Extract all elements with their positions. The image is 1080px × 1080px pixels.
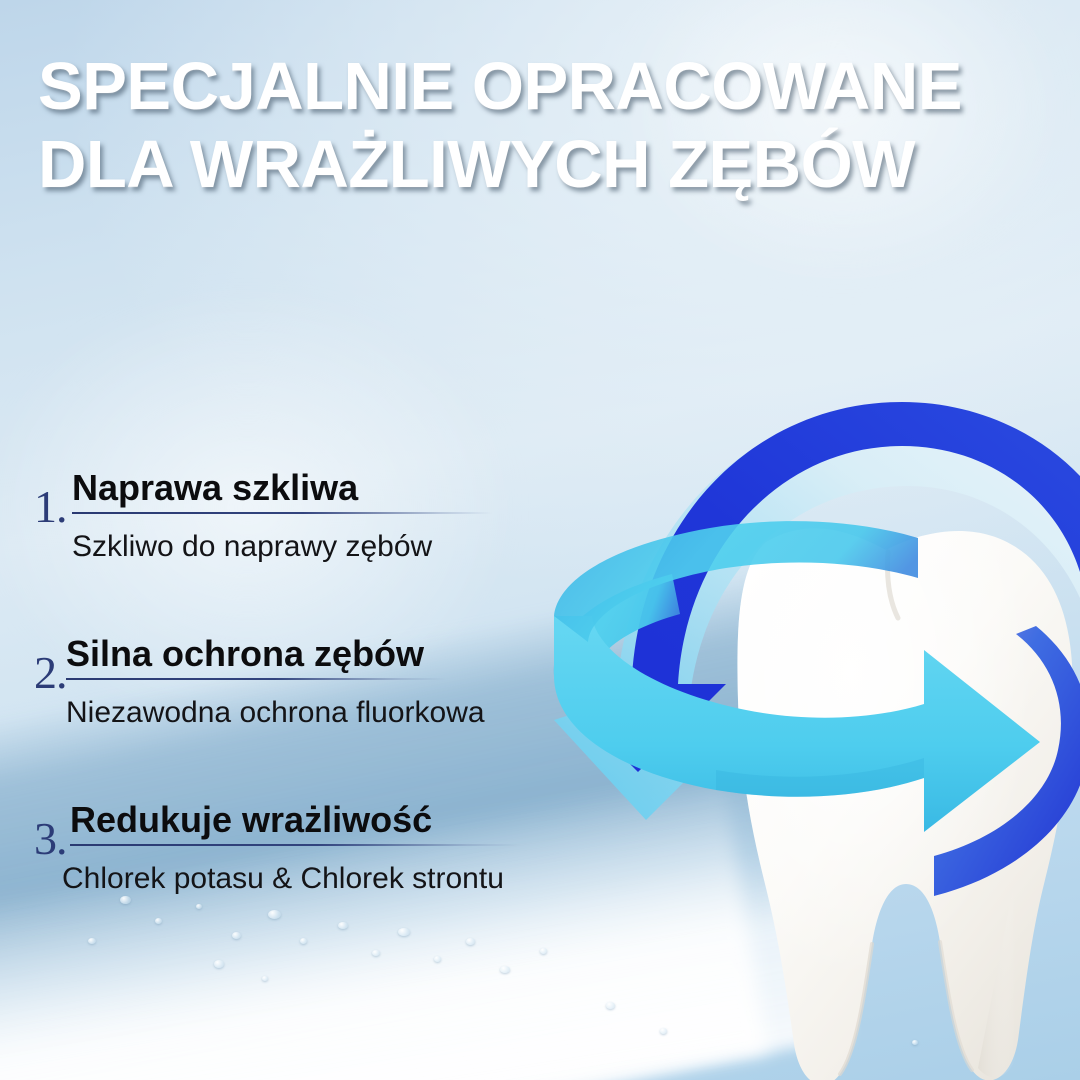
feature-divider-1 (72, 512, 492, 514)
page-title: SPECJALNIE OPRACOWANE DLA WRAŻLIWYCH ZĘB… (38, 48, 1048, 204)
poster-root: SPECJALNIE OPRACOWANE DLA WRAŻLIWYCH ZĘB… (0, 0, 1080, 1080)
feature-number-2: 2. (34, 650, 67, 696)
feature-number-3: 3. (34, 816, 67, 862)
feature-number-1: 1. (34, 484, 67, 530)
feature-item-2: 2. Silna ochrona zębów Niezawodna ochron… (0, 632, 560, 732)
feature-subtitle-3: Chlorek potasu & Chlorek strontu (62, 860, 560, 898)
feature-subtitle-1: Szkliwo do naprawy zębów (72, 528, 560, 566)
feature-item-3: 3. Redukuje wrażliwość Chlorek potasu & … (0, 798, 560, 898)
tooth-with-arrows-illustration (520, 280, 1080, 1080)
feature-divider-3 (70, 844, 520, 846)
feature-item-1: 1. Naprawa szkliwa Szkliwo do naprawy zę… (0, 466, 560, 566)
feature-divider-2 (66, 678, 446, 680)
headline-line-2: DLA WRAŻLIWYCH ZĘBÓW (38, 126, 1048, 204)
feature-title-3: Redukuje wrażliwość (70, 798, 560, 842)
headline-line-1: SPECJALNIE OPRACOWANE (38, 48, 1048, 126)
tooth (737, 528, 1072, 1080)
feature-title-2: Silna ochrona zębów (66, 632, 560, 676)
feature-title-1: Naprawa szkliwa (72, 466, 560, 510)
feature-subtitle-2: Niezawodna ochrona fluorkowa (66, 694, 560, 732)
